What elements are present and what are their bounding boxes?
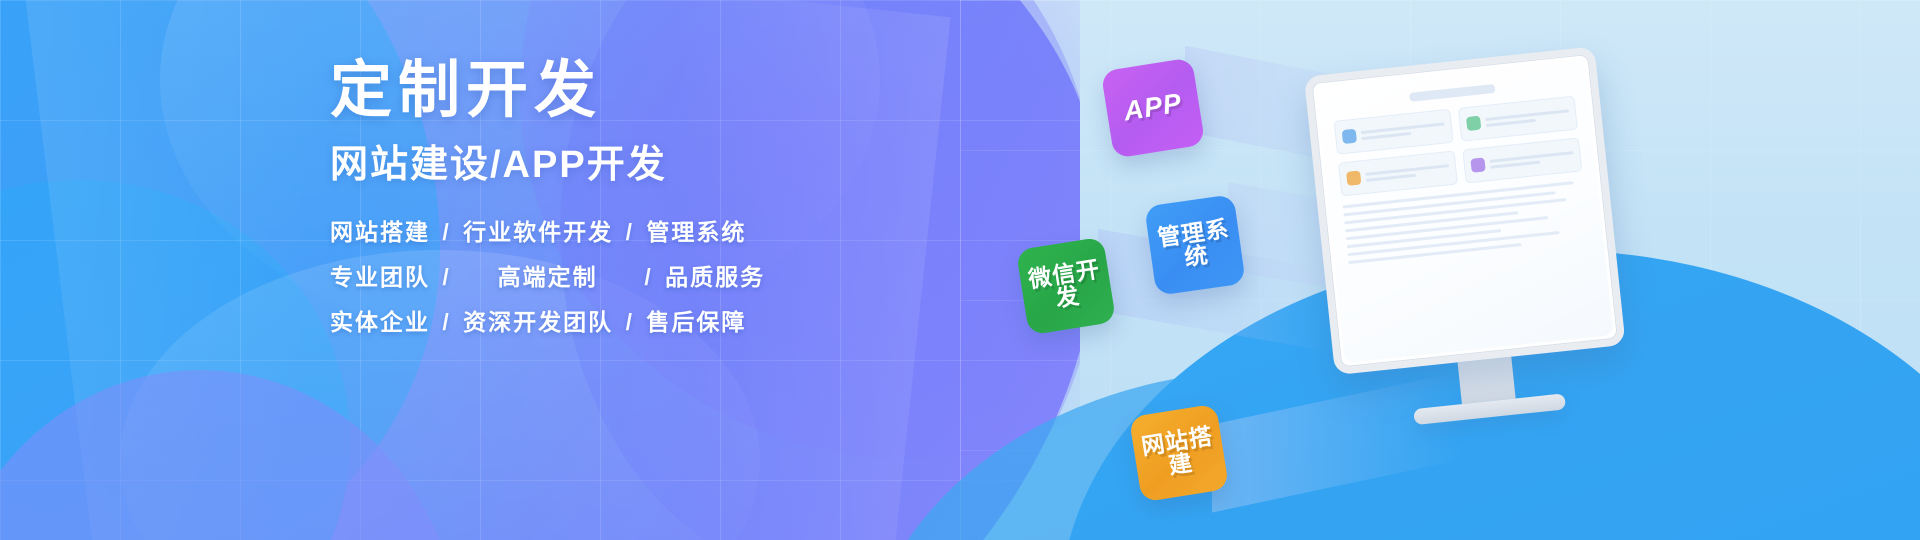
service-card-management-system[interactable]: 管理系统: [1144, 194, 1246, 296]
feature-separator: /: [438, 219, 454, 245]
feature-3-part-2: 资深开发团队: [463, 309, 613, 335]
feature-1-part-1: 网站搭建: [330, 219, 430, 245]
feature-line-2: 专业团队 / 高端定制 / 品质服务: [330, 266, 890, 289]
feature-2-part-2: 高端定制: [498, 264, 598, 290]
feature-separator: /: [438, 309, 454, 335]
page-subtitle: 网站建设/APP开发: [330, 145, 890, 187]
feature-2-part-3: 品质服务: [665, 264, 765, 290]
screen-card-icon: [1342, 129, 1357, 144]
monitor-illustration: [1304, 45, 1646, 494]
screen-text-block: [1343, 180, 1590, 264]
screen-card-lines: [1365, 164, 1449, 182]
feature-separator: /: [438, 264, 454, 290]
feature-2-part-1: 专业团队: [330, 264, 430, 290]
service-card-app-label: APP: [1122, 90, 1184, 126]
page-title: 定制开发: [330, 58, 890, 123]
screen-card-icon: [1466, 116, 1481, 131]
screen-card-lines: [1361, 122, 1445, 140]
monitor-frame: [1304, 46, 1626, 375]
service-card-website-building-label: 网站搭建: [1132, 423, 1226, 483]
feature-line-3: 实体企业 / 资深开发团队 / 售后保障: [330, 311, 890, 334]
feature-separator: /: [640, 264, 656, 290]
feature-1-part-3: 管理系统: [646, 219, 746, 245]
feature-separator: /: [622, 219, 638, 245]
screen-card: [1334, 109, 1454, 155]
service-card-wechat-development-label: 微信开发: [1019, 256, 1113, 316]
service-card-wechat-development[interactable]: 微信开发: [1016, 237, 1116, 336]
feature-list: 网站搭建 / 行业软件开发 / 管理系统 专业团队 / 高端定制 / 品质服务 …: [330, 221, 890, 334]
screen-card-lines: [1485, 109, 1569, 127]
screen-topbar: [1409, 84, 1495, 102]
monitor-neck: [1458, 357, 1516, 404]
screen-card-lines: [1490, 151, 1574, 169]
service-card-management-system-label: 管理系统: [1147, 216, 1243, 275]
feature-1-part-2: 行业软件开发: [463, 219, 613, 245]
screen-card: [1338, 150, 1458, 196]
copy-block: 定制开发 网站建设/APP开发 网站搭建 / 行业软件开发 / 管理系统 专业团…: [330, 58, 890, 334]
screen-card: [1458, 96, 1578, 142]
screen-card-icon: [1346, 170, 1361, 185]
monitor-screen: [1316, 58, 1614, 363]
feature-line-1: 网站搭建 / 行业软件开发 / 管理系统: [330, 221, 890, 244]
screen-card-icon: [1470, 157, 1485, 172]
service-card-app[interactable]: APP: [1101, 57, 1206, 158]
service-card-website-building[interactable]: 网站搭建: [1129, 404, 1229, 503]
feature-3-part-3: 售后保障: [646, 309, 746, 335]
feature-3-part-1: 实体企业: [330, 309, 430, 335]
promo-banner: 定制开发 网站建设/APP开发 网站搭建 / 行业软件开发 / 管理系统 专业团…: [0, 0, 1920, 540]
screen-card: [1462, 137, 1582, 183]
feature-separator: /: [622, 309, 638, 335]
